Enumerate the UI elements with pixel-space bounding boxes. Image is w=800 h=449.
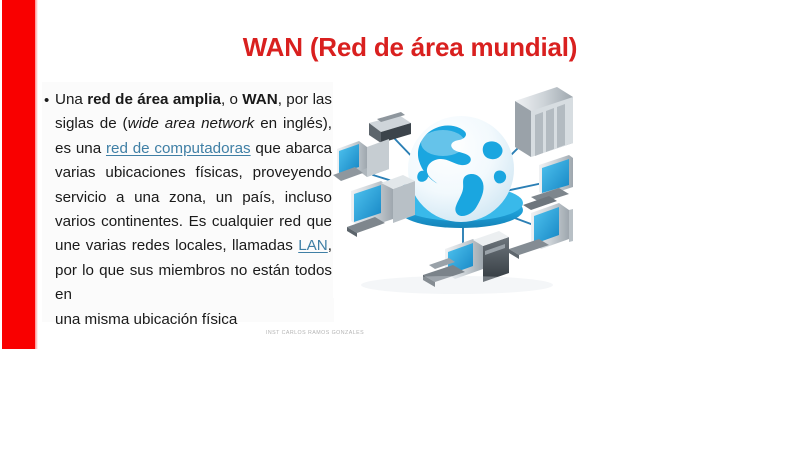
list-item: • Una red de área amplia, o WAN, por las… [44, 88, 332, 332]
hyperlink-red-de-computadoras[interactable]: red de computadoras [106, 140, 251, 157]
text-run-bold: WAN [242, 91, 277, 108]
left-accent-bar [2, 0, 35, 349]
text-run-normal: Una [55, 91, 87, 108]
bullet-marker-icon: • [44, 89, 49, 113]
footer-credit: INST CARLOS RAMOS GONZALES [215, 329, 415, 337]
text-run-normal: que abarca varias ubicaciones físicas, p… [55, 140, 332, 255]
hyperlink-lan[interactable]: LAN [298, 237, 328, 254]
network-diagram-svg [333, 79, 573, 298]
wan-network-diagram-image [333, 79, 573, 298]
text-run-bold: red de área amplia [87, 91, 221, 108]
left-accent-bar-shadow [35, 0, 38, 349]
list-item-text: Una red de área amplia, o WAN, por las s… [55, 88, 332, 332]
text-run-italic: wide area network [128, 115, 255, 132]
slide-canvas: WAN (Red de área mundial) • Una red de á… [0, 0, 800, 449]
page-title: WAN (Red de área mundial) [60, 30, 760, 64]
text-run-normal: , o [221, 91, 242, 108]
